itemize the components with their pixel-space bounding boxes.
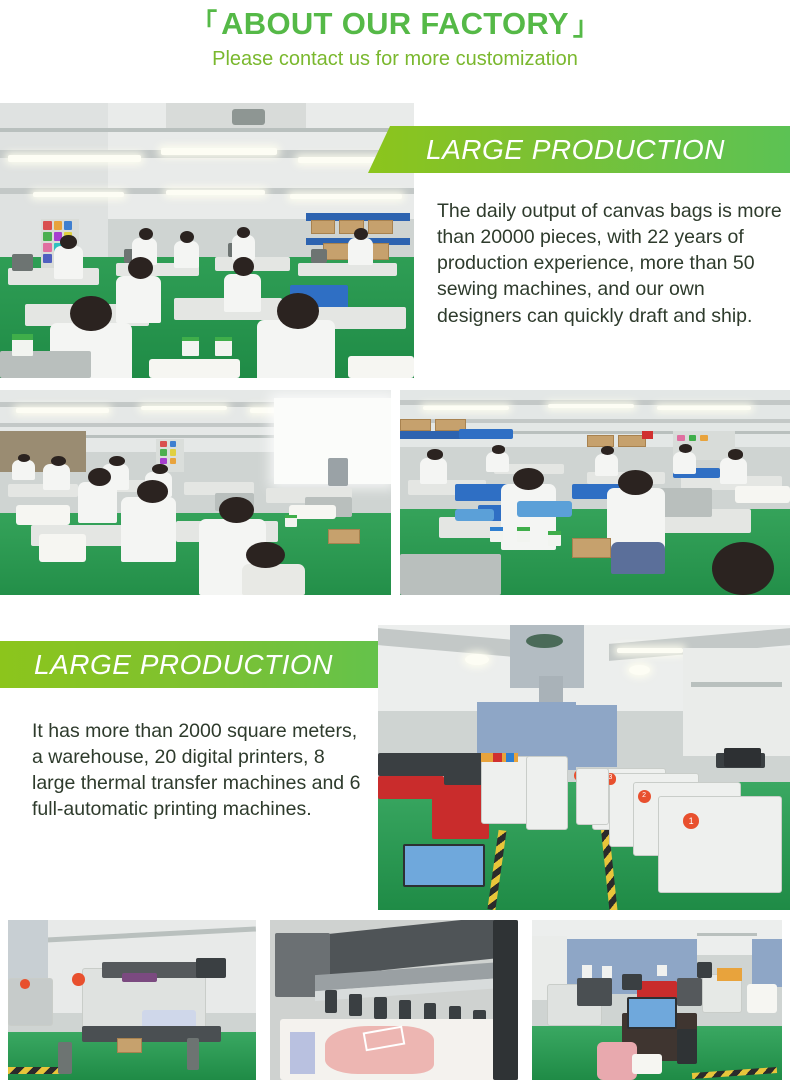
page-subtitle: Please contact us for more customization — [0, 48, 790, 71]
factory-photo-printer-carriage-closeup — [270, 920, 518, 1080]
corner-bracket-right-icon: 」 — [573, 13, 599, 39]
page-title-text: ABOUT OUR FACTORY — [221, 8, 569, 39]
section-banner-large-production-top: LARGE PRODUCTION — [368, 126, 790, 173]
section-body-text-bottom: It has more than 2000 square meters, a w… — [32, 718, 362, 823]
factory-photo-sewing-floor — [0, 103, 414, 378]
factory-photo-sewing-line-left — [0, 390, 391, 595]
section-banner-large-production-bottom: LARGE PRODUCTION — [0, 641, 436, 688]
banner-label: LARGE PRODUCTION — [426, 134, 725, 166]
section-body-text-top: The daily output of canvas bags is more … — [437, 198, 782, 329]
corner-bracket-left-icon: 「 — [191, 10, 217, 36]
page-header: 「 ABOUT OUR FACTORY 」 Please contact us … — [0, 0, 790, 71]
banner-label: LARGE PRODUCTION — [34, 649, 333, 681]
factory-photo-printing-workstation — [532, 920, 782, 1080]
factory-photo-wide-format-printer — [8, 920, 256, 1080]
printer-badge-2: 2 — [638, 790, 651, 803]
factory-photo-printing-room: 4 3 2 1 — [378, 625, 790, 910]
factory-photo-sewing-line-right — [400, 390, 790, 595]
page-title: 「 ABOUT OUR FACTORY 」 — [0, 8, 790, 39]
